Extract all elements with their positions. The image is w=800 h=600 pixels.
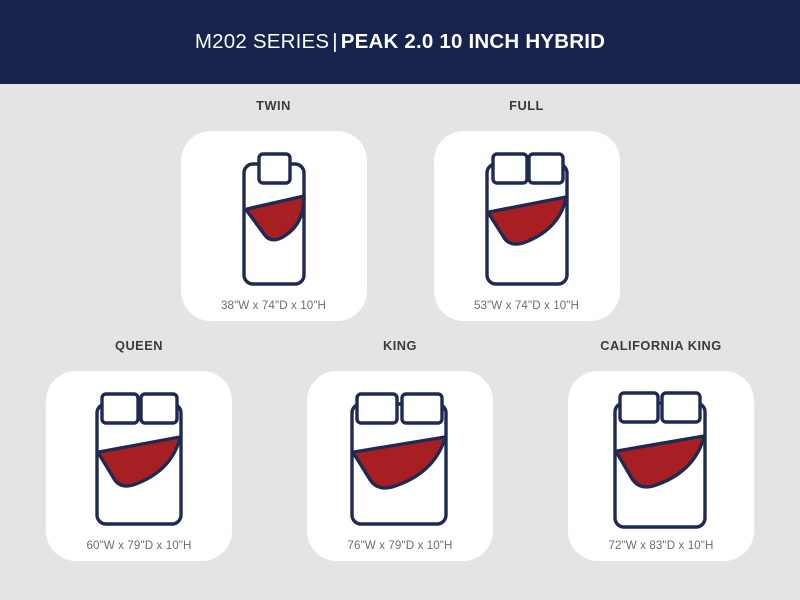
size-cell-queen: QUEEN 60"W x 79"D x 10"H <box>46 338 232 561</box>
size-dimensions-twin: 38"W x 74"D x 10"H <box>221 295 326 321</box>
bed-twin-icon <box>226 150 322 290</box>
bed-california-king-icon <box>602 389 720 531</box>
size-cell-king: KING 76"W x 79"D x 10"H <box>307 338 493 561</box>
bed-queen-icon <box>83 390 195 530</box>
size-row-bottom: QUEEN 60"W x 79"D x 10"H KING <box>0 338 800 561</box>
bed-king-icon <box>340 390 460 530</box>
bed-illustration-california-king <box>568 385 754 535</box>
size-cell-full: FULL 53"W x 74"D x 10"H <box>434 98 620 321</box>
bed-illustration-queen <box>46 385 232 535</box>
header-title: M202 SERIES|PEAK 2.0 10 INCH HYBRID <box>195 30 605 54</box>
size-title-california-king: CALIFORNIA KING <box>600 338 721 354</box>
size-cell-twin: TWIN 38"W x 74"D x 10"H <box>181 98 367 321</box>
size-dimensions-king: 76"W x 79"D x 10"H <box>347 535 452 561</box>
header-separator: | <box>329 30 341 53</box>
size-dimensions-california-king: 72"W x 83"D x 10"H <box>608 535 713 561</box>
size-dimensions-full: 53"W x 74"D x 10"H <box>474 295 579 321</box>
size-card-california-king[interactable]: 72"W x 83"D x 10"H <box>568 371 754 561</box>
header-product-name: PEAK 2.0 10 INCH HYBRID <box>341 30 605 53</box>
size-card-twin[interactable]: 38"W x 74"D x 10"H <box>181 131 367 321</box>
size-row-top: TWIN 38"W x 74"D x 10"H FULL <box>0 98 800 321</box>
size-title-twin: TWIN <box>256 98 291 114</box>
bed-illustration-king <box>307 385 493 535</box>
size-dimensions-queen: 60"W x 79"D x 10"H <box>86 535 191 561</box>
bed-illustration-twin <box>181 145 367 295</box>
size-card-full[interactable]: 53"W x 74"D x 10"H <box>434 131 620 321</box>
size-cell-california-king: CALIFORNIA KING 72"W x 83"D x 10"H <box>568 338 754 561</box>
size-grid: TWIN 38"W x 74"D x 10"H FULL <box>0 84 800 600</box>
size-title-full: FULL <box>509 98 544 114</box>
size-card-king[interactable]: 76"W x 79"D x 10"H <box>307 371 493 561</box>
bed-illustration-full <box>434 145 620 295</box>
size-title-queen: QUEEN <box>115 338 163 354</box>
bed-full-icon <box>473 150 581 290</box>
page-header: M202 SERIES|PEAK 2.0 10 INCH HYBRID <box>0 0 800 84</box>
size-title-king: KING <box>383 338 417 354</box>
header-series-label: M202 SERIES <box>195 30 329 53</box>
size-card-queen[interactable]: 60"W x 79"D x 10"H <box>46 371 232 561</box>
